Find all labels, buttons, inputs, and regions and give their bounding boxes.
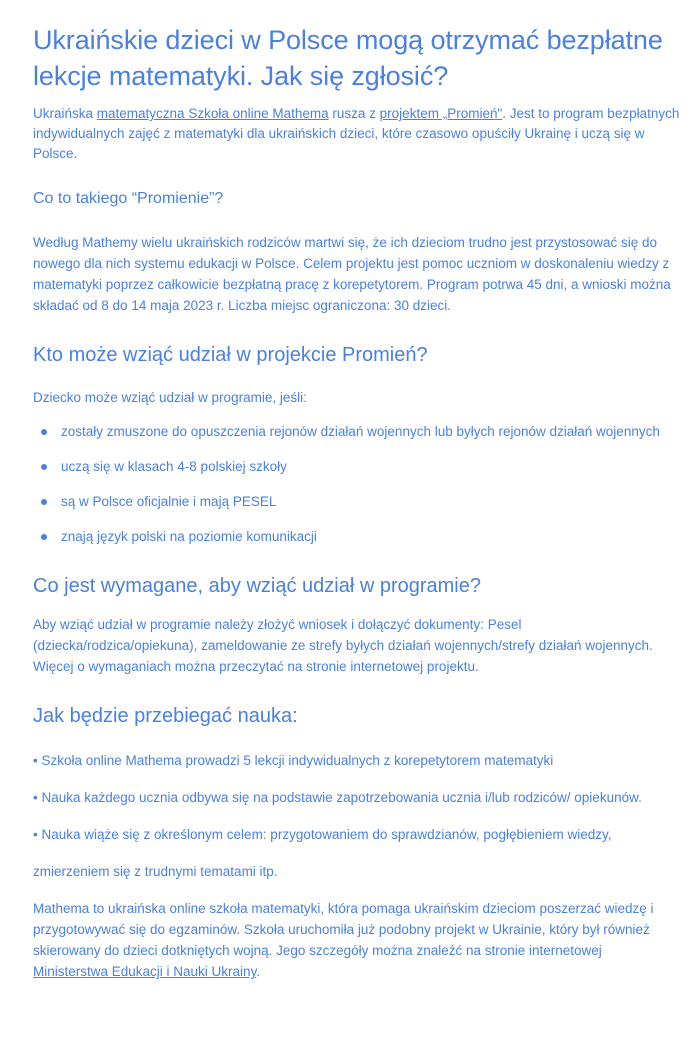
- bullet-dot-icon: [41, 499, 47, 505]
- section-heading-co-to-takiego: Co to takiego “Promienie”?: [33, 188, 680, 210]
- section-intro-kto-moze: Dziecko może wziąć udział w programie, j…: [33, 387, 680, 408]
- list-item: uczą się w klasach 4-8 polskiej szkoły: [33, 457, 680, 477]
- page-title: Ukraińskie dzieci w Polsce mogą otrzymać…: [33, 22, 680, 94]
- list-item-label: są w Polsce oficjalnie i mają PESEL: [61, 494, 276, 509]
- lead-text-before-link: Ukraińska: [33, 106, 97, 121]
- bullet-dot-icon: [41, 464, 47, 470]
- section-heading-jak-bedzie-przebiegac: Jak będzie przebiegać nauka:: [33, 703, 680, 730]
- article-page: Ukraińskie dzieci w Polsce mogą otrzymać…: [0, 0, 700, 996]
- section-heading-kto-moze: Kto może wziąć udział w projekcie Promie…: [33, 342, 680, 369]
- list-item-label: zostały zmuszone do opuszczenia rejonów …: [61, 424, 660, 439]
- bullet-dot-icon: [41, 534, 47, 540]
- lead-text-between-links: rusza z: [329, 106, 380, 121]
- bullet-dot-icon: [41, 429, 47, 435]
- list-item-label: uczą się w klasach 4-8 polskiej szkoły: [61, 459, 287, 474]
- dash-list-item: • Nauka każdego ucznia odbywa się na pod…: [33, 787, 680, 808]
- closing-text-before-link: Mathema to ukraińska online szkoła matem…: [33, 901, 654, 958]
- list-item: są w Polsce oficjalnie i mają PESEL: [33, 492, 680, 512]
- dash-list-item: • Nauka wiąże się z określonym celem: pr…: [33, 824, 680, 845]
- lead-paragraph: Ukraińska matematyczna Szkoła online Mat…: [33, 104, 680, 164]
- link-mathema-school[interactable]: matematyczna Szkoła online Mathema: [97, 106, 329, 121]
- link-ministerstwo-edukacji[interactable]: Ministerstwa Edukacji i Nauki Ukrainy: [33, 964, 256, 979]
- link-projekt-promien[interactable]: projektem „Promień": [380, 106, 503, 121]
- eligibility-list: zostały zmuszone do opuszczenia rejonów …: [33, 422, 680, 547]
- closing-text-after-link: .: [256, 964, 260, 979]
- dash-list-item: • Szkoła online Mathema prowadzi 5 lekcj…: [33, 750, 680, 771]
- section-paragraph-co-to-takiego: Według Mathemy wielu ukraińskich rodzicó…: [33, 232, 680, 316]
- list-item: zostały zmuszone do opuszczenia rejonów …: [33, 422, 680, 442]
- section-paragraph-co-jest-wymagane: Aby wziąć udział w programie należy złoż…: [33, 614, 680, 677]
- closing-paragraph: Mathema to ukraińska online szkoła matem…: [33, 898, 680, 982]
- list-item-label: znają język polski na poziomie komunikac…: [61, 529, 317, 544]
- section-heading-co-jest-wymagane: Co jest wymagane, aby wziąć udział w pro…: [33, 573, 680, 600]
- list-item: znają język polski na poziomie komunikac…: [33, 527, 680, 547]
- dash-list-item: zmierzeniem się z trudnymi tematami itp.: [33, 861, 680, 882]
